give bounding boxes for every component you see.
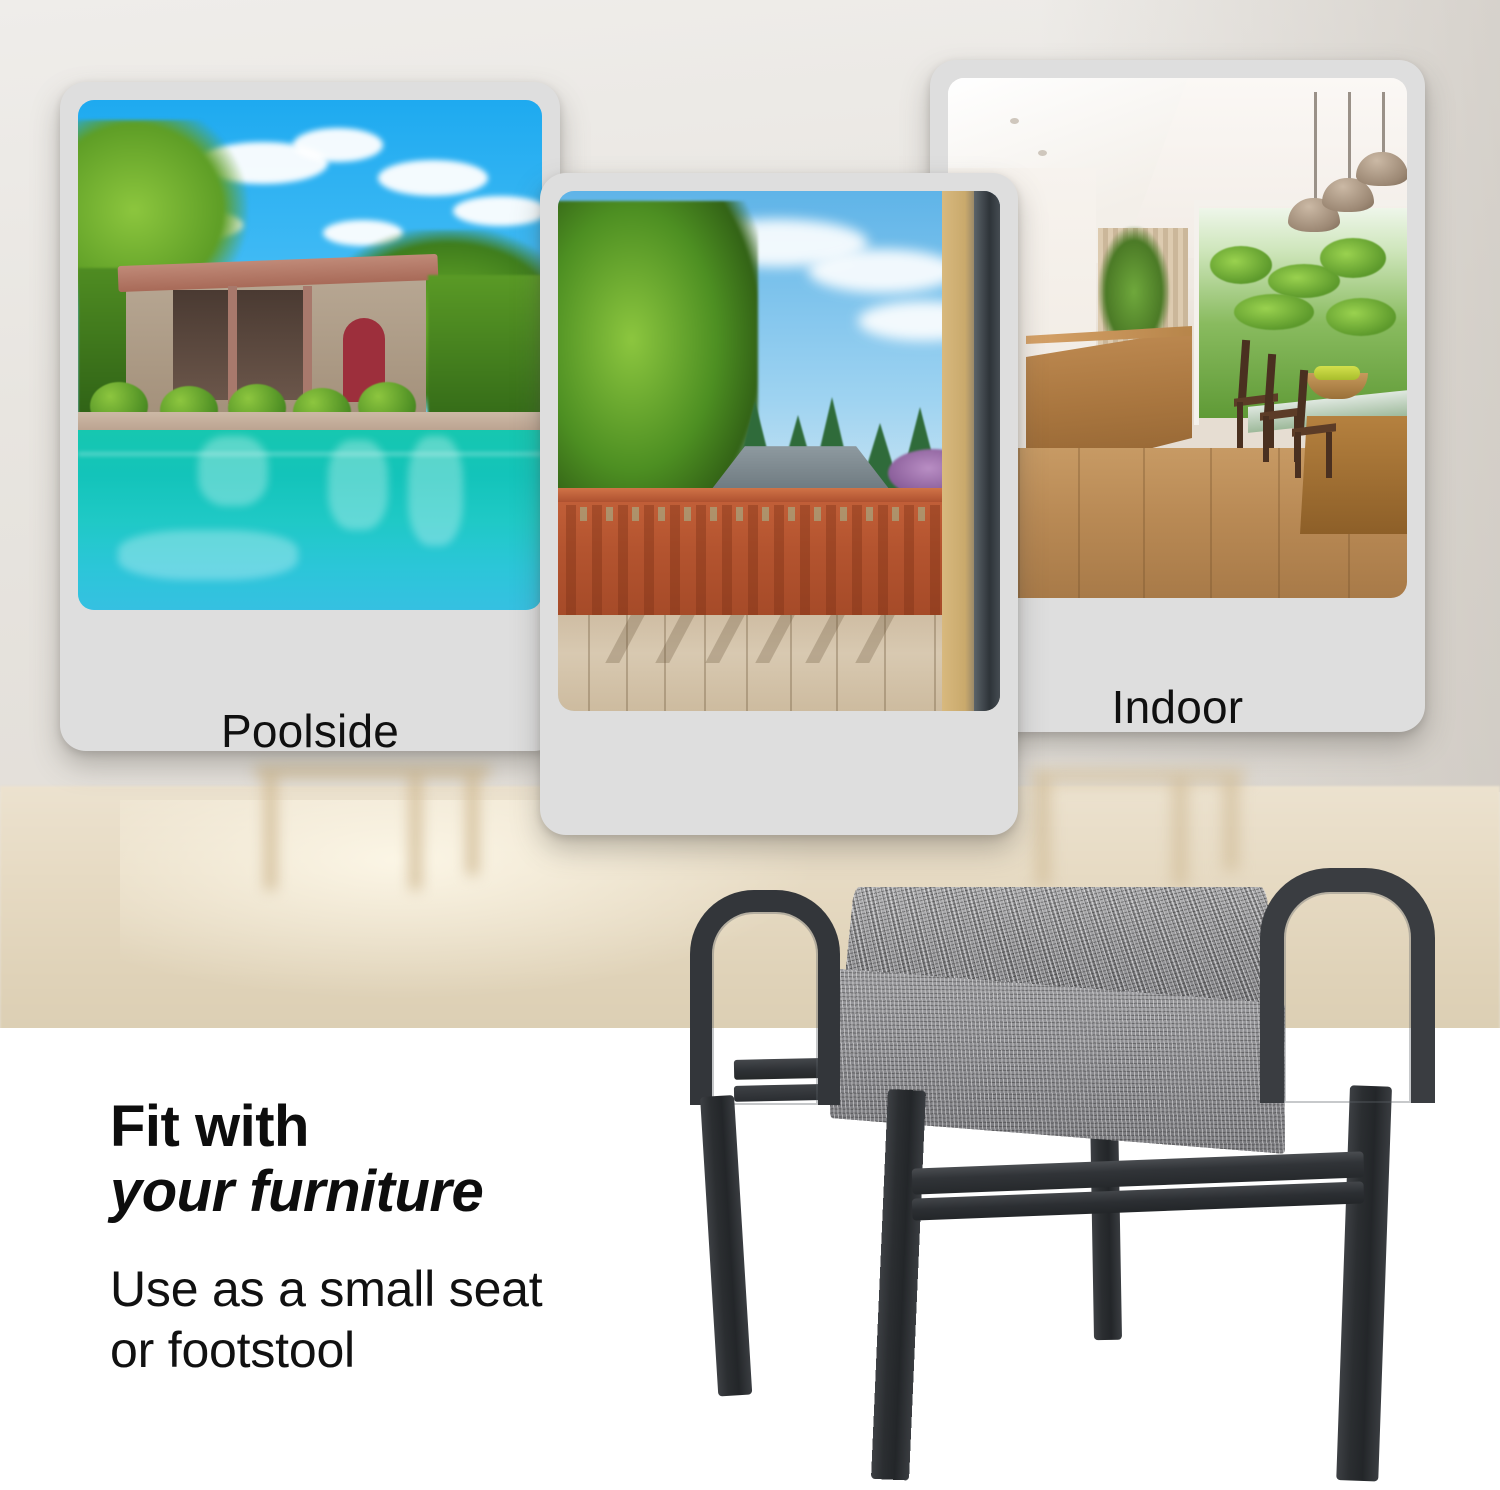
ottoman-leg-back-right xyxy=(1336,1085,1392,1481)
headline-line-1: Fit with xyxy=(110,1094,309,1159)
blurred-side-table-left xyxy=(255,765,490,890)
ottoman-leg-front-right xyxy=(871,1089,926,1480)
headline: Fit with your furniture xyxy=(110,1095,750,1225)
headline-line-2: your furniture xyxy=(110,1160,750,1225)
poolside-photo xyxy=(78,100,542,610)
subline-line-1: Use as a small seat xyxy=(110,1259,750,1320)
usage-card-balcony[interactable]: Balcony xyxy=(540,173,1018,835)
ottoman-leg-back-left xyxy=(1090,1110,1122,1340)
balcony-photo xyxy=(558,191,1000,711)
card-label-poolside: Poolside xyxy=(60,704,560,751)
subline: Use as a small seat or footstool xyxy=(110,1259,750,1381)
usage-card-poolside[interactable]: Poolside xyxy=(60,82,560,751)
ottoman-side-rail-right xyxy=(1260,868,1435,1103)
marketing-copy: Fit with your furniture Use as a small s… xyxy=(110,1095,750,1381)
subline-line-2: or footstool xyxy=(110,1320,750,1381)
ottoman-side-rail-left xyxy=(690,890,840,1105)
product-ottoman xyxy=(660,860,1470,1490)
